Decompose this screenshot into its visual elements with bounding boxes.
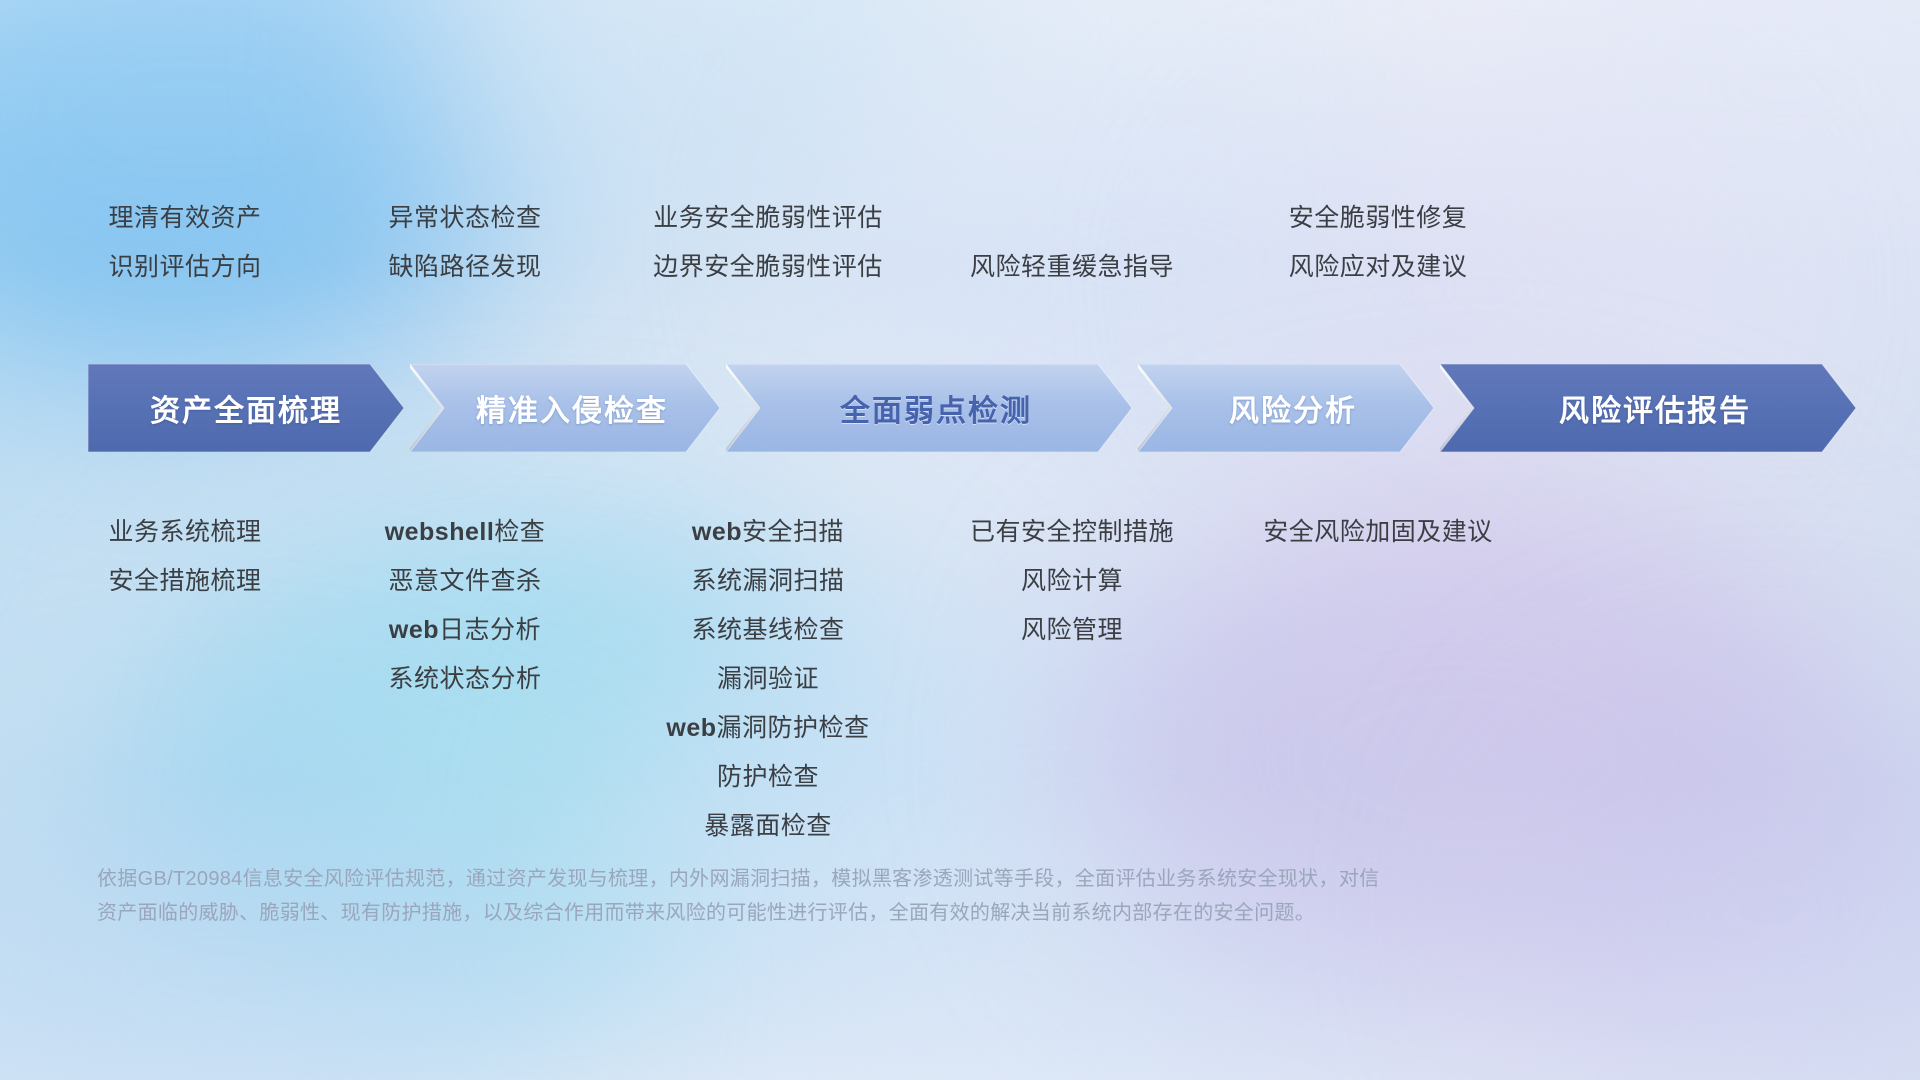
stage-arrow-report[interactable]: 风险评估报告 (1440, 364, 1856, 452)
stage-label-intrusion: 精准入侵检查 (476, 386, 668, 430)
stage-label-risk-analysis: 风险分析 (1229, 386, 1357, 430)
bottom-detail-keyword: web (692, 518, 742, 546)
bottom-detail-keyword: web (389, 616, 439, 644)
top-descriptor-item: 业务安全脆弱性评估 (508, 194, 1028, 243)
stage-arrow-intrusion[interactable]: 精准入侵检查 (410, 364, 720, 452)
bottom-detail-item: 暴露面检查 (508, 802, 1028, 851)
stage-label-asset: 资产全面梳理 (150, 386, 342, 430)
stage-arrow-asset[interactable]: 资产全面梳理 (88, 364, 404, 452)
stage-label-weakness: 全面弱点检测 (840, 386, 1032, 430)
bottom-details-report: 安全风险加固及建议 (1118, 508, 1638, 557)
bottom-detail-item: 漏洞验证 (508, 655, 1028, 704)
footer-line-2: 资产面临的威胁、脆弱性、现有防护措施，以及综合作用而带来风险的可能性进行评估，全… (97, 896, 1597, 930)
stage-label-report: 风险评估报告 (1559, 386, 1751, 430)
bottom-detail-item: 风险管理 (812, 606, 1332, 655)
top-descriptor-item: 风险应对及建议 (1118, 243, 1638, 292)
bottom-detail-keyword: webshell (385, 518, 495, 546)
top-descriptors-report: 安全脆弱性修复风险应对及建议 (1118, 194, 1638, 292)
top-descriptor-item: 安全脆弱性修复 (1118, 194, 1638, 243)
footer-note: 依据GB/T20984信息安全风险评估规范，通过资产发现与梳理，内外网漏洞扫描，… (97, 862, 1597, 930)
stage-arrow-weakness[interactable]: 全面弱点检测 (726, 364, 1132, 452)
bottom-detail-item: 安全风险加固及建议 (1118, 508, 1638, 557)
footer-line-1: 依据GB/T20984信息安全风险评估规范，通过资产发现与梳理，内外网漏洞扫描，… (97, 862, 1597, 896)
bottom-detail-item: 风险计算 (812, 557, 1332, 606)
bottom-detail-item: 防护检查 (508, 753, 1028, 802)
bottom-detail-item: web漏洞防护检查 (508, 704, 1028, 753)
stage-arrow-risk-analysis[interactable]: 风险分析 (1138, 364, 1434, 452)
bottom-detail-keyword: web (666, 714, 716, 742)
process-arrow-band: 资产全面梳理 精准入侵检查 (88, 364, 1832, 452)
